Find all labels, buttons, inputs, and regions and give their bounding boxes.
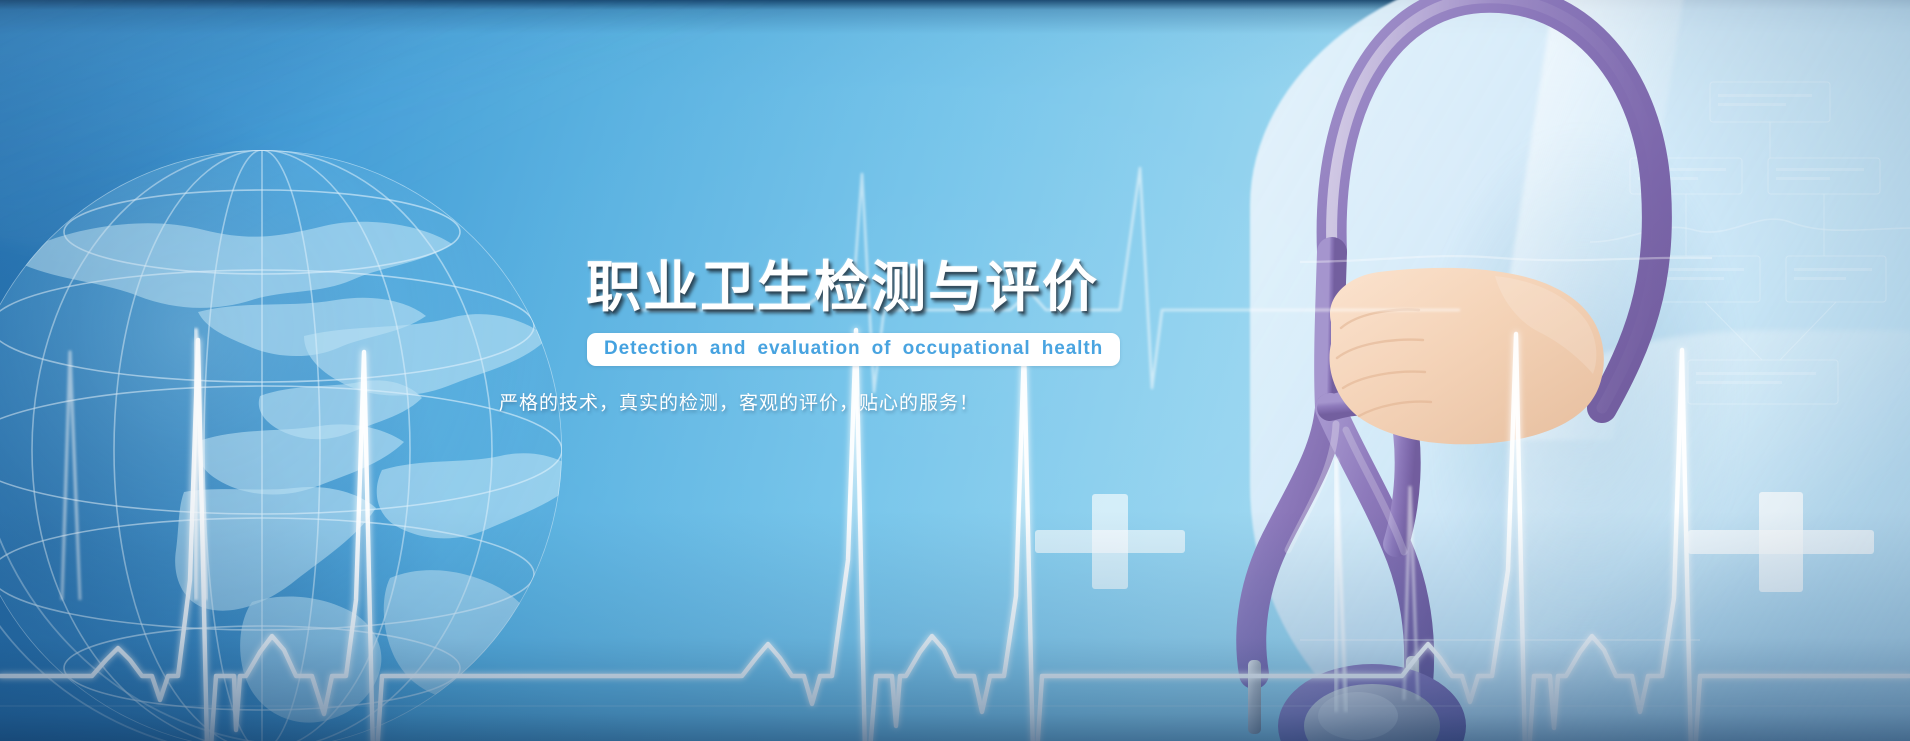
vignette-overlay <box>0 0 1910 741</box>
occupational-health-banner: 职业卫生检测与评价 Detection and evaluation of oc… <box>0 0 1910 741</box>
